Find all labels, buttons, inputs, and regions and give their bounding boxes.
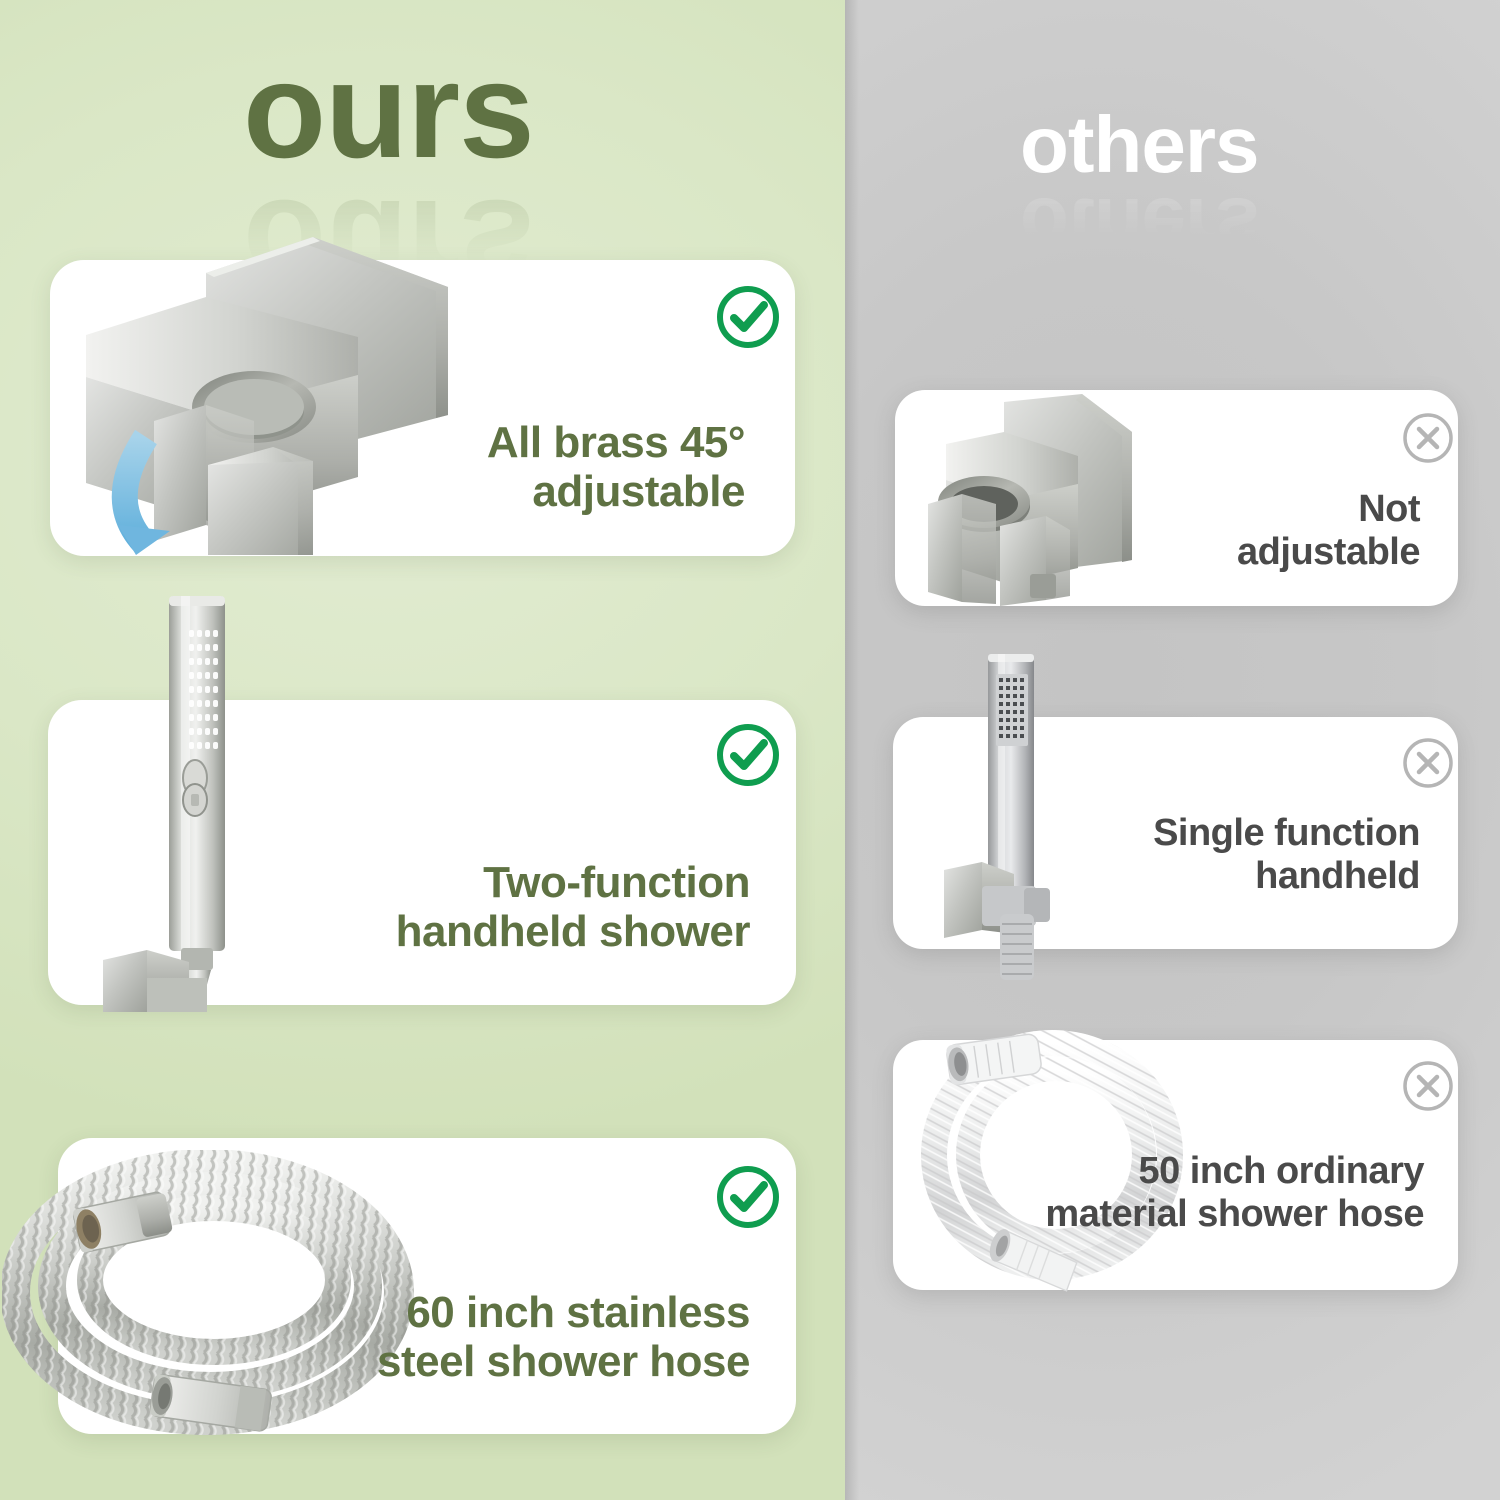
ours-feature-label-handheld: Two-function handheld shower [300,858,750,957]
check-circle-icon [713,1162,783,1232]
x-circle-icon [1400,1058,1456,1114]
check-circle-icon [713,720,783,790]
x-circle-icon [1400,410,1456,466]
others-feature-label-bracket-line2: adjustable [1110,531,1420,574]
ours-heading: ours [243,42,534,178]
ours-feature-label-bracket: All brass 45° adjustable [400,418,745,517]
ours-feature-label-bracket-line2: adjustable [400,467,745,516]
others-feature-label-bracket-line1: Not [1110,488,1420,531]
ours-feature-label-bracket-line1: All brass 45° [400,418,745,467]
others-heading: others [1020,105,1259,185]
others-feature-label-handheld: Single function handheld [1060,812,1420,897]
handheld-shower-single-function-image [940,648,1075,980]
comparison-infographic: ours ours All brass 45° adjustable [0,0,1500,1500]
handheld-shower-two-function-image [85,588,265,1013]
ours-feature-label-handheld-line1: Two-function [300,858,750,907]
others-feature-label-bracket: Not adjustable [1110,488,1420,573]
others-feature-label-handheld-line1: Single function [1060,812,1420,855]
ours-feature-label-hose-line1: 60 inch stainless [250,1288,750,1337]
ours-feature-label-handheld-line2: handheld shower [300,907,750,956]
others-feature-label-hose-line2: material shower hose [1030,1193,1424,1236]
others-heading-reflection: others [1020,186,1259,266]
ours-feature-label-hose: 60 inch stainless steel shower hose [250,1288,750,1387]
ours-feature-label-hose-line2: steel shower hose [250,1337,750,1386]
others-feature-label-hose-line1: 50 inch ordinary [1030,1150,1424,1193]
others-feature-label-hose: 50 inch ordinary material shower hose [1030,1150,1424,1235]
check-circle-icon [713,282,783,352]
x-circle-icon [1400,735,1456,791]
others-feature-label-handheld-line2: handheld [1060,855,1420,898]
